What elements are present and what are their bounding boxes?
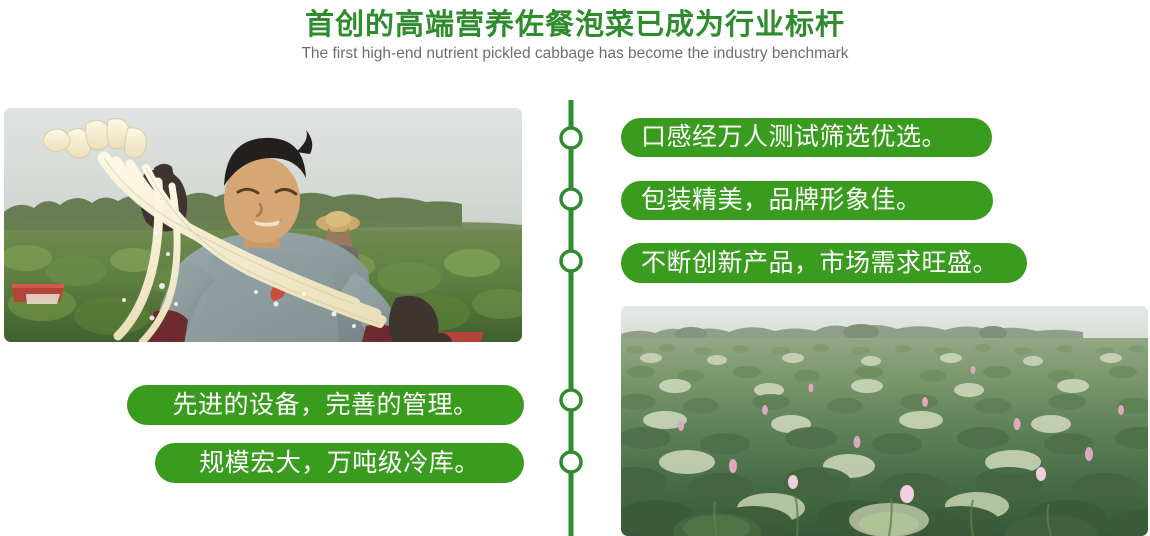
page-subtitle: The first high-end nutrient pickled cabb… [0,44,1150,64]
header: 首创的高端营养佐餐泡菜已成为行业标杆 The first high-end nu… [0,0,1150,90]
feature-pill-equipment[interactable]: 先进的设备，完善的管理。 [127,385,524,425]
page-title: 首创的高端营养佐餐泡菜已成为行业标杆 [0,8,1150,42]
farmer-photo-illustration [4,108,522,342]
feature-pill-innovation[interactable]: 不断创新产品，市场需求旺盛。 [621,243,1027,283]
promo-banner: 首创的高端营养佐餐泡菜已成为行业标杆 The first high-end nu… [0,0,1150,536]
timeline-node-3 [561,251,581,271]
farmer-harvest-photo [4,108,522,342]
timeline-connector [545,100,597,536]
timeline-node-2 [561,189,581,209]
feature-pill-taste[interactable]: 口感经万人测试筛选优选。 [621,118,992,157]
lotus-field-illustration [621,306,1148,536]
timeline-node-4 [561,390,581,410]
feature-pill-packaging[interactable]: 包装精美，品牌形象佳。 [621,181,993,220]
timeline-node-5 [561,452,581,472]
lotus-field-photo [621,306,1148,536]
timeline-illustration [545,100,597,536]
feature-pill-coldstore[interactable]: 规模宏大，万吨级冷库。 [155,443,524,483]
timeline-node-1 [561,128,581,148]
